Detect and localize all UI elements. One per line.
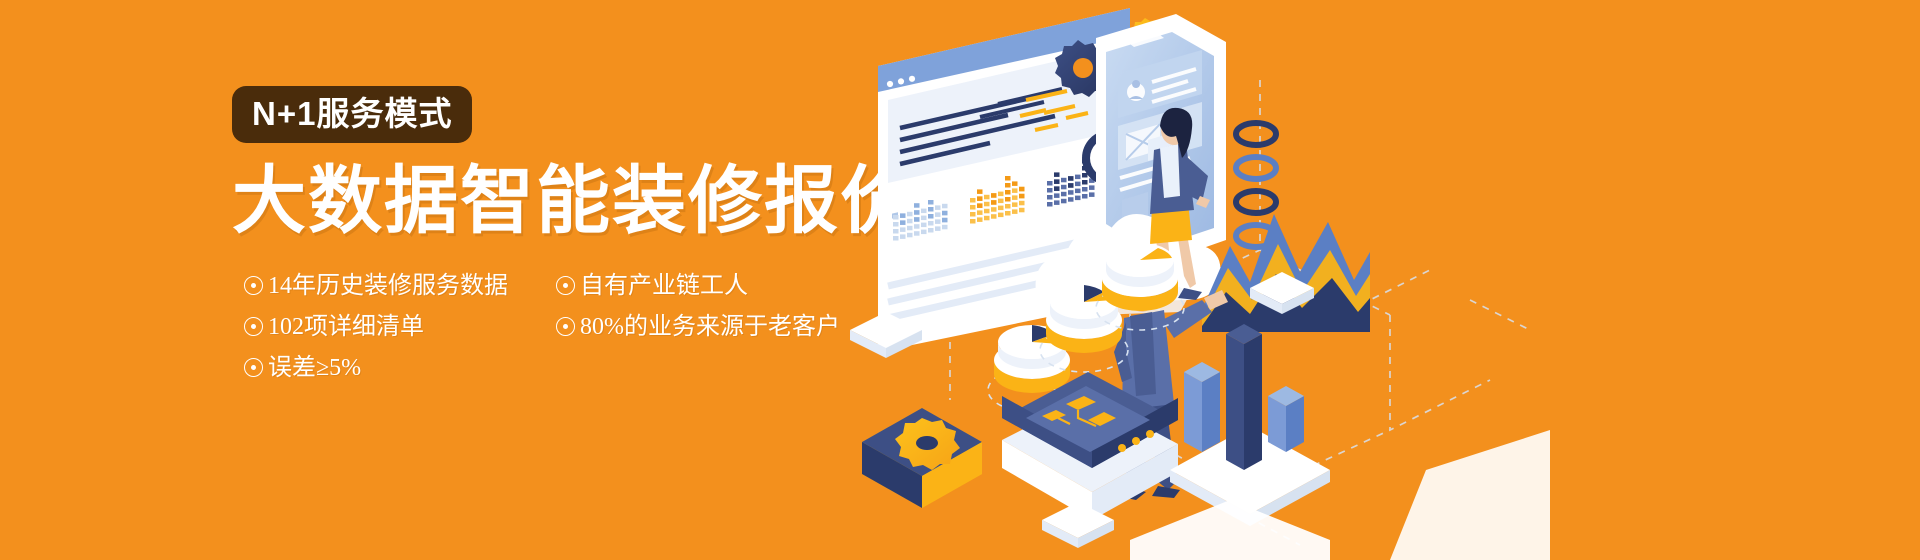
floor-wedge-center	[1130, 500, 1330, 560]
list-item: 误差≥5%	[244, 356, 556, 380]
gear-hex-block	[862, 408, 982, 508]
bar-column-group	[1170, 324, 1330, 526]
circled-dot-icon	[556, 276, 575, 295]
circled-dot-icon	[244, 317, 263, 336]
list-item: 102项详细清单	[244, 315, 556, 339]
list-item-label: 102项详细清单	[268, 315, 424, 339]
circled-dot-icon	[244, 358, 263, 377]
list-item-label: 14年历史装修服务数据	[268, 274, 508, 298]
list-item: 14年历史装修服务数据	[244, 274, 556, 298]
list-item-label: 误差≥5%	[268, 356, 361, 380]
circled-dot-icon	[556, 317, 575, 336]
circled-dot-icon	[244, 276, 263, 295]
list-item-label: 自有产业链工人	[580, 274, 748, 298]
floor-wedge-right	[1390, 430, 1550, 560]
service-model-badge: N+1服务模式	[232, 86, 472, 143]
list-item-label: 80%的业务来源于老客户	[580, 315, 840, 339]
isometric-big-data-illustration	[830, 0, 1550, 560]
promotional-banner: N+1服务模式 大数据智能装修报价 14年历史装修服务数据 自有产业链工人 10…	[0, 0, 1920, 560]
area-chart-ribbon	[1202, 214, 1370, 332]
